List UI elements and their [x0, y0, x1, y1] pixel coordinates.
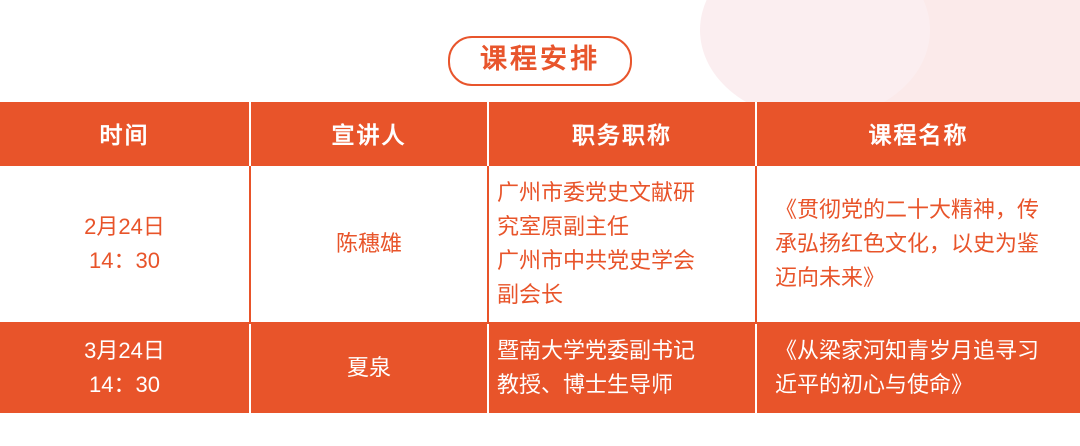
- time-clock: 14：30: [8, 368, 241, 402]
- table-body: 2月24日 14：30 陈穗雄 广州市委党史文献研 究室原副主任 广州市中共党史…: [0, 165, 1080, 413]
- cell-speaker: 夏泉: [250, 323, 488, 412]
- schedule-table: 时间 宣讲人 职务职称 课程名称 2月24日 14：30 陈穗雄 广州市委党史文…: [0, 102, 1080, 413]
- course-line-2: 承弘扬红色文化，以史为鉴: [765, 227, 1072, 261]
- time-clock: 14：30: [8, 244, 241, 278]
- table-row: 2月24日 14：30 陈穗雄 广州市委党史文献研 究室原副主任 广州市中共党史…: [0, 165, 1080, 323]
- table-row: 3月24日 14：30 夏泉 暨南大学党委副书记 教授、博士生导师 《从梁家河知…: [0, 323, 1080, 412]
- cell-speaker: 陈穗雄: [250, 165, 488, 323]
- table-header-row: 时间 宣讲人 职务职称 课程名称: [0, 102, 1080, 165]
- schedule-page: 课程安排 时间 宣讲人 职务职称 课程名称 2月24日 14：30 陈穗雄: [0, 0, 1080, 446]
- course-line-3: 迈向未来》: [765, 261, 1072, 295]
- job-line-2: 究室原副主任: [497, 210, 747, 244]
- column-header-time: 时间: [0, 102, 250, 165]
- column-header-course-name: 课程名称: [756, 102, 1080, 165]
- course-line-1: 《从梁家河知青岁月追寻习: [765, 334, 1072, 368]
- cell-course-name: 《从梁家河知青岁月追寻习 近平的初心与使命》: [756, 323, 1080, 412]
- table-header: 时间 宣讲人 职务职称 课程名称: [0, 102, 1080, 165]
- column-header-speaker: 宣讲人: [250, 102, 488, 165]
- cell-job-title: 广州市委党史文献研 究室原副主任 广州市中共党史学会 副会长: [488, 165, 756, 323]
- cell-course-name: 《贯彻党的二十大精神，传 承弘扬红色文化，以史为鉴 迈向未来》: [756, 165, 1080, 323]
- job-line-3: 广州市中共党史学会: [497, 244, 747, 278]
- job-line-2: 教授、博士生导师: [497, 368, 747, 402]
- time-date: 2月24日: [8, 210, 241, 244]
- column-header-job-title: 职务职称: [488, 102, 756, 165]
- cell-job-title: 暨南大学党委副书记 教授、博士生导师: [488, 323, 756, 412]
- job-line-1: 广州市委党史文献研: [497, 176, 747, 210]
- course-line-2: 近平的初心与使命》: [765, 368, 1072, 402]
- cell-time: 3月24日 14：30: [0, 323, 250, 412]
- course-line-1: 《贯彻党的二十大精神，传: [765, 193, 1072, 227]
- job-line-1: 暨南大学党委副书记: [497, 334, 747, 368]
- time-date: 3月24日: [8, 334, 241, 368]
- job-line-4: 副会长: [497, 278, 747, 312]
- cell-time: 2月24日 14：30: [0, 165, 250, 323]
- page-title-wrapper: 课程安排: [0, 36, 1080, 86]
- page-title: 课程安排: [448, 36, 632, 86]
